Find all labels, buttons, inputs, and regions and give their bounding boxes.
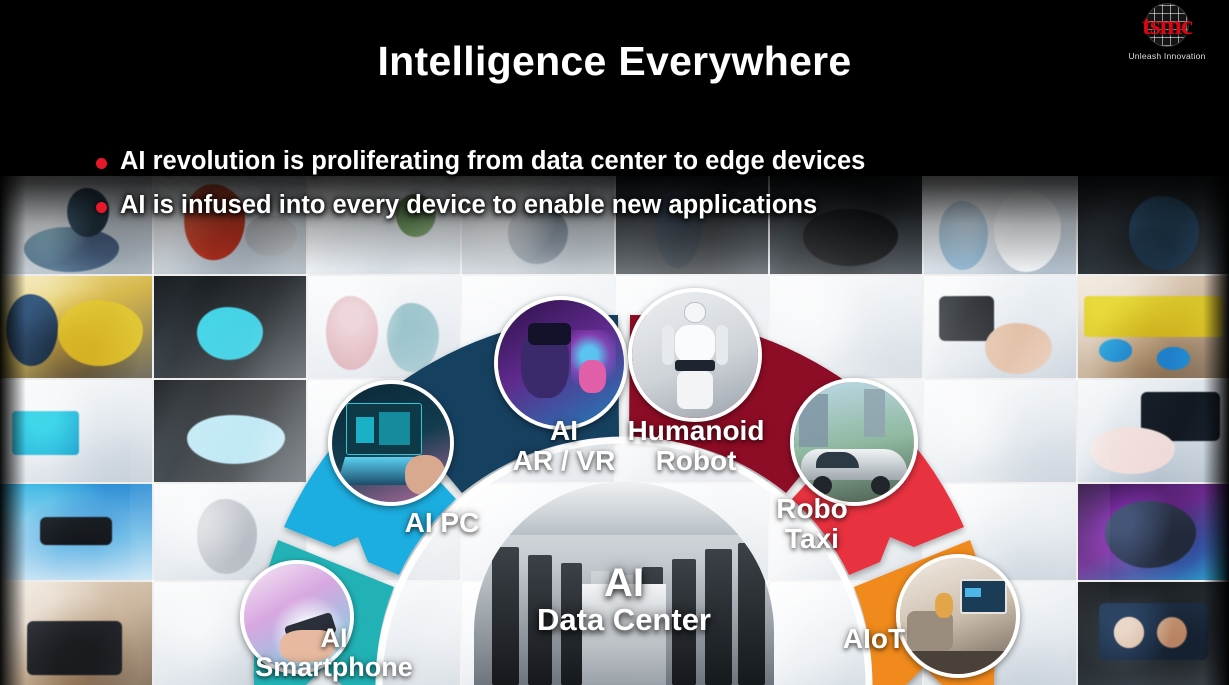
radial-arrow-diagram: AI Smartphone AI PC AI AR / VR Humanoid … bbox=[224, 272, 1024, 685]
bullet-text: AI is infused into every device to enabl… bbox=[120, 191, 817, 220]
left-vignette bbox=[0, 0, 26, 685]
wafer-icon: tsmc bbox=[1129, 2, 1205, 48]
inset-ai-smartphone-photo bbox=[240, 560, 354, 674]
tsmc-logo: tsmc Unleash Innovation bbox=[1115, 2, 1219, 64]
logo-wordmark: tsmc bbox=[1142, 12, 1192, 39]
bullet-item: AI is infused into every device to enabl… bbox=[96, 191, 817, 220]
inset-ai-ar-vr-photo bbox=[494, 296, 628, 430]
right-vignette bbox=[1203, 0, 1229, 685]
logo-tagline: Unleash Innovation bbox=[1115, 51, 1219, 61]
inset-humanoid-robot-photo bbox=[628, 288, 762, 422]
bullet-dot-icon bbox=[96, 202, 107, 213]
bullet-dot-icon bbox=[96, 158, 107, 169]
inset-aiot-photo bbox=[896, 554, 1020, 678]
inset-robo-taxi-photo bbox=[790, 378, 918, 506]
page-title: Intelligence Everywhere bbox=[0, 38, 1229, 85]
bullet-text: AI revolution is proliferating from data… bbox=[120, 147, 865, 176]
bullet-item: AI revolution is proliferating from data… bbox=[96, 147, 865, 176]
inset-ai-pc-photo bbox=[328, 380, 454, 506]
